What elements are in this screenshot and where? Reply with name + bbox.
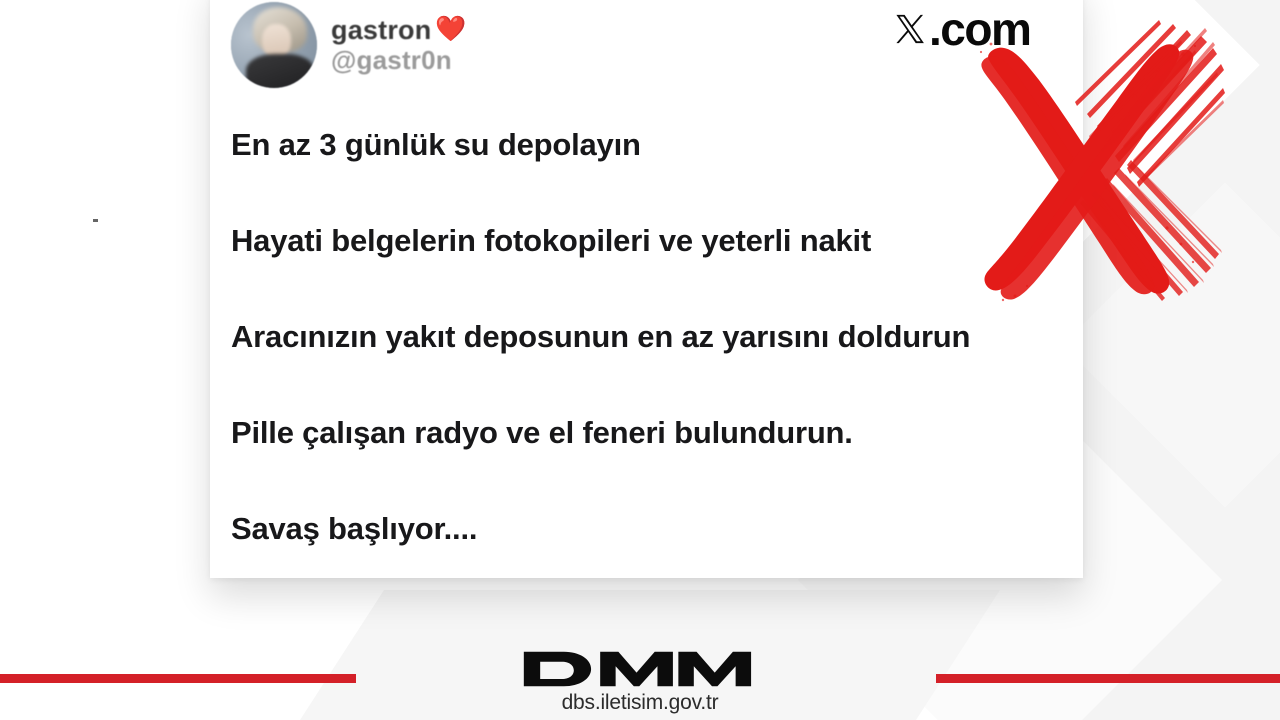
tweet-line: En az 3 günlük su depolayın: [231, 128, 1061, 162]
heart-icon: ❤️: [435, 17, 466, 42]
source-badge-text: .com: [929, 2, 1030, 56]
author-handle: @gastr0n: [331, 46, 467, 75]
tweet-body: En az 3 günlük su depolayın Hayati belge…: [231, 128, 1061, 546]
tweet-author-header: gastron ❤️ @gastr0n: [231, 2, 467, 88]
x-logo-icon: [893, 9, 927, 49]
dmm-logo-icon: [522, 649, 758, 689]
avatar: [231, 2, 317, 88]
background-left-panel: [0, 0, 215, 720]
footer-url: dbs.iletisim.gov.tr: [562, 691, 719, 715]
avatar-body: [246, 54, 313, 88]
tweet-line: Pille çalışan radyo ve el feneri bulundu…: [231, 416, 1061, 450]
tweet-line: Hayati belgelerin fotokopileri ve yeterl…: [231, 224, 1061, 258]
source-badge: .com: [893, 2, 1030, 56]
display-name: gastron: [331, 16, 431, 44]
tweet-line: Aracınızın yakıt deposunun en az yarısın…: [231, 320, 1061, 354]
screenshot-root: gastron ❤️ @gastr0n En az 3 günlük su de…: [0, 0, 1280, 720]
display-name-row: gastron ❤️: [331, 16, 467, 44]
author-names: gastron ❤️ @gastr0n: [331, 16, 467, 75]
footer-brand: dbs.iletisim.gov.tr: [0, 649, 1280, 715]
tweet-line: Savaş başlıyor....: [231, 512, 1061, 546]
background-speck: [93, 219, 98, 222]
tweet-card: gastron ❤️ @gastr0n En az 3 günlük su de…: [210, 0, 1083, 578]
